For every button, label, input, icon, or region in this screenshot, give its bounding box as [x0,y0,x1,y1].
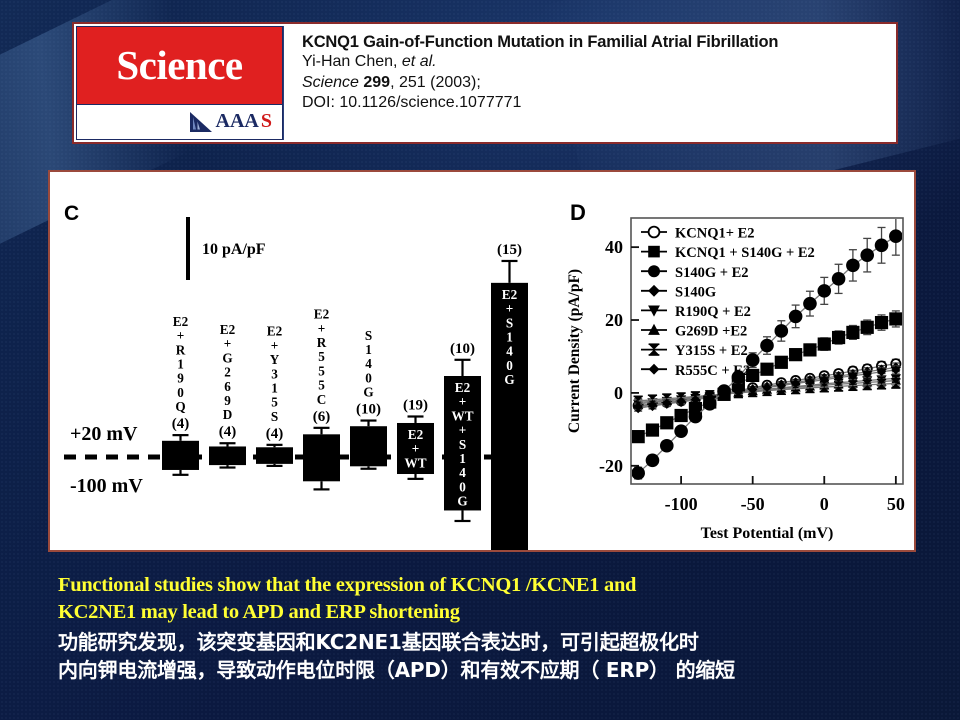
svg-text:Y315S + E2: Y315S + E2 [675,343,748,359]
figure-panel: C D 10 pA/pF+20 mV-100 mV(4)E2+R190Q(4)E… [48,170,916,552]
svg-text:(6): (6) [313,409,331,425]
bar-negative-0 [162,457,199,470]
svg-text:-100: -100 [665,494,698,514]
caption-cn-line-1: 功能研究发现，该突变基因和KC2NE1基因联合表达时，可引起超极化时 [58,629,938,657]
science-wordmark-text: Science [116,45,242,86]
svg-text:-100 mV: -100 mV [70,475,143,497]
svg-text:D: D [223,407,233,422]
svg-text:50: 50 [887,494,905,514]
caption-en-line-1: Functional studies show that the express… [58,572,938,599]
panel-c-svg: 10 pA/pF+20 mV-100 mV(4)E2+R190Q(4)E2+G2… [50,172,550,550]
svg-text:+: + [412,441,420,456]
legend-entry-3 [641,285,667,297]
caption-block: Functional studies show that the express… [58,572,938,684]
svg-text:R190Q + E2: R190Q + E2 [675,304,751,320]
svg-text:S: S [365,328,372,343]
svg-text:0: 0 [459,479,466,494]
panel-c-bar-chart: 10 pA/pF+20 mV-100 mV(4)E2+R190Q(4)E2+G2… [50,172,550,550]
svg-text:0: 0 [365,370,372,385]
svg-text:R: R [176,342,186,357]
svg-text:G: G [457,494,467,509]
citation-box: Science AAAS KCNQ1 Gain-of-Function Muta… [72,22,898,144]
svg-text:G269D +E2: G269D +E2 [675,324,747,340]
legend-entry-5 [641,324,667,335]
svg-text:1: 1 [271,380,278,395]
citation-authors: Yi-Han Chen, et al. [302,52,886,72]
citation-text-block: KCNQ1 Gain-of-Function Mutation in Famil… [286,24,896,142]
svg-text:KCNQ1 + S140G + E2: KCNQ1 + S140G + E2 [675,245,815,261]
svg-text:E2: E2 [455,380,471,395]
svg-text:(4): (4) [266,426,284,442]
bar-positive-0 [162,441,199,457]
svg-text:G: G [222,350,232,365]
svg-text:4: 4 [459,465,466,480]
svg-text:4: 4 [506,344,513,359]
bar-negative-7 [491,457,528,550]
bar-negative-2 [256,457,293,464]
legend-entry-4 [641,306,667,317]
svg-text:G: G [363,385,373,400]
svg-text:(19): (19) [403,398,428,414]
bar-positive-4 [350,426,387,457]
citation-journal-volume: 299 [363,74,390,91]
svg-text:0: 0 [820,494,829,514]
svg-text:+: + [506,301,514,316]
science-wordmark: Science [76,26,283,105]
svg-text:5: 5 [318,378,325,393]
bar-negative-4 [350,457,387,466]
svg-text:WT: WT [452,408,474,423]
svg-text:(10): (10) [450,341,475,357]
panel-d-line-chart: -100-50050-2002040Test Potential (mV)Cur… [555,184,913,546]
svg-text:Y: Y [270,352,280,367]
svg-text:1: 1 [177,357,184,372]
svg-text:5: 5 [318,349,325,364]
svg-text:4: 4 [365,356,372,371]
svg-text:(4): (4) [219,424,237,440]
legend-entry-0 [641,227,667,238]
svg-text:E2: E2 [220,322,236,337]
svg-text:+20 mV: +20 mV [70,423,138,445]
svg-text:(15): (15) [497,242,522,258]
svg-text:0: 0 [177,385,184,400]
svg-text:R555C + E2: R555C + E2 [675,363,750,379]
caption-cn-line-2: 内向钾电流增强，导致动作电位时限（APD）和有效不应期（ ERP） 的缩短 [58,657,938,685]
citation-etal: et al. [402,53,437,70]
svg-text:1: 1 [459,451,466,466]
svg-text:S140G + E2: S140G + E2 [675,265,749,281]
bar-negative-3 [303,457,340,481]
svg-text:5: 5 [271,395,278,410]
svg-text:+: + [271,338,279,353]
svg-text:E2: E2 [502,287,518,302]
svg-text:(10): (10) [356,402,381,418]
caption-en-line-2: KC2NE1 may lead to APD and ERP shortenin… [58,599,938,626]
citation-journal-pages: , 251 (2003); [390,74,481,91]
svg-text:R: R [317,335,327,350]
legend-entry-2 [641,265,667,277]
slide-canvas: Science AAAS KCNQ1 Gain-of-Function Muta… [0,0,960,720]
svg-text:+: + [459,423,467,438]
svg-text:KCNQ1+ E2: KCNQ1+ E2 [675,226,755,242]
svg-text:0: 0 [614,383,623,403]
svg-text:G: G [504,372,514,387]
svg-text:3: 3 [271,366,278,381]
aaas-triangle-icon [188,110,214,134]
svg-text:E2: E2 [267,324,283,339]
svg-text:E2: E2 [173,314,189,329]
svg-text:0: 0 [506,358,513,373]
citation-journal: Science 299, 251 (2003); [302,73,886,93]
svg-text:+: + [224,336,232,351]
bar-negative-1 [209,457,246,465]
svg-text:C: C [317,392,327,407]
legend-entry-1 [641,246,667,258]
svg-text:1: 1 [506,329,513,344]
citation-author-name: Yi-Han Chen, [302,53,397,70]
svg-text:9: 9 [224,393,231,408]
svg-text:E2: E2 [408,427,424,442]
svg-text:+: + [318,321,326,336]
svg-text:WT: WT [405,455,427,470]
svg-text:40: 40 [605,237,623,257]
svg-text:2: 2 [224,365,231,380]
svg-text:S: S [271,409,278,424]
svg-text:E2: E2 [314,307,330,322]
legend-entry-7 [641,364,667,375]
bar-positive-1 [209,446,246,457]
bar-positive-3 [303,434,340,457]
svg-text:(4): (4) [172,416,190,432]
svg-text:+: + [177,328,185,343]
svg-text:Test Potential (mV): Test Potential (mV) [701,525,834,542]
svg-text:Q: Q [175,399,185,414]
bar-positive-2 [256,447,293,457]
svg-text:S: S [459,437,466,452]
citation-doi: DOI: 10.1126/science.1077771 [302,93,886,113]
svg-text:S: S [506,315,513,330]
svg-text:10 pA/pF: 10 pA/pF [202,241,266,258]
svg-text:Current Density (pA/pF): Current Density (pA/pF) [566,269,583,433]
aaas-logo-text: AAA [216,110,259,133]
svg-text:20: 20 [605,310,623,330]
svg-text:5: 5 [318,363,325,378]
svg-text:S140G: S140G [675,284,716,300]
svg-text:-20: -20 [599,456,623,476]
svg-text:1: 1 [365,342,372,357]
citation-journal-name: Science [302,74,359,91]
series-1 [632,311,903,443]
svg-text:-50: -50 [741,494,765,514]
legend-entry-6 [641,344,667,355]
citation-title: KCNQ1 Gain-of-Function Mutation in Famil… [302,33,886,51]
panel-d-svg: -100-50050-2002040Test Potential (mV)Cur… [555,184,913,546]
aaas-logo: AAAS [76,105,283,140]
aaas-logo-tail: S [261,110,272,133]
svg-text:+: + [459,394,467,409]
svg-text:9: 9 [177,371,184,386]
svg-text:6: 6 [224,379,231,394]
science-logo-column: Science AAAS [76,26,284,140]
